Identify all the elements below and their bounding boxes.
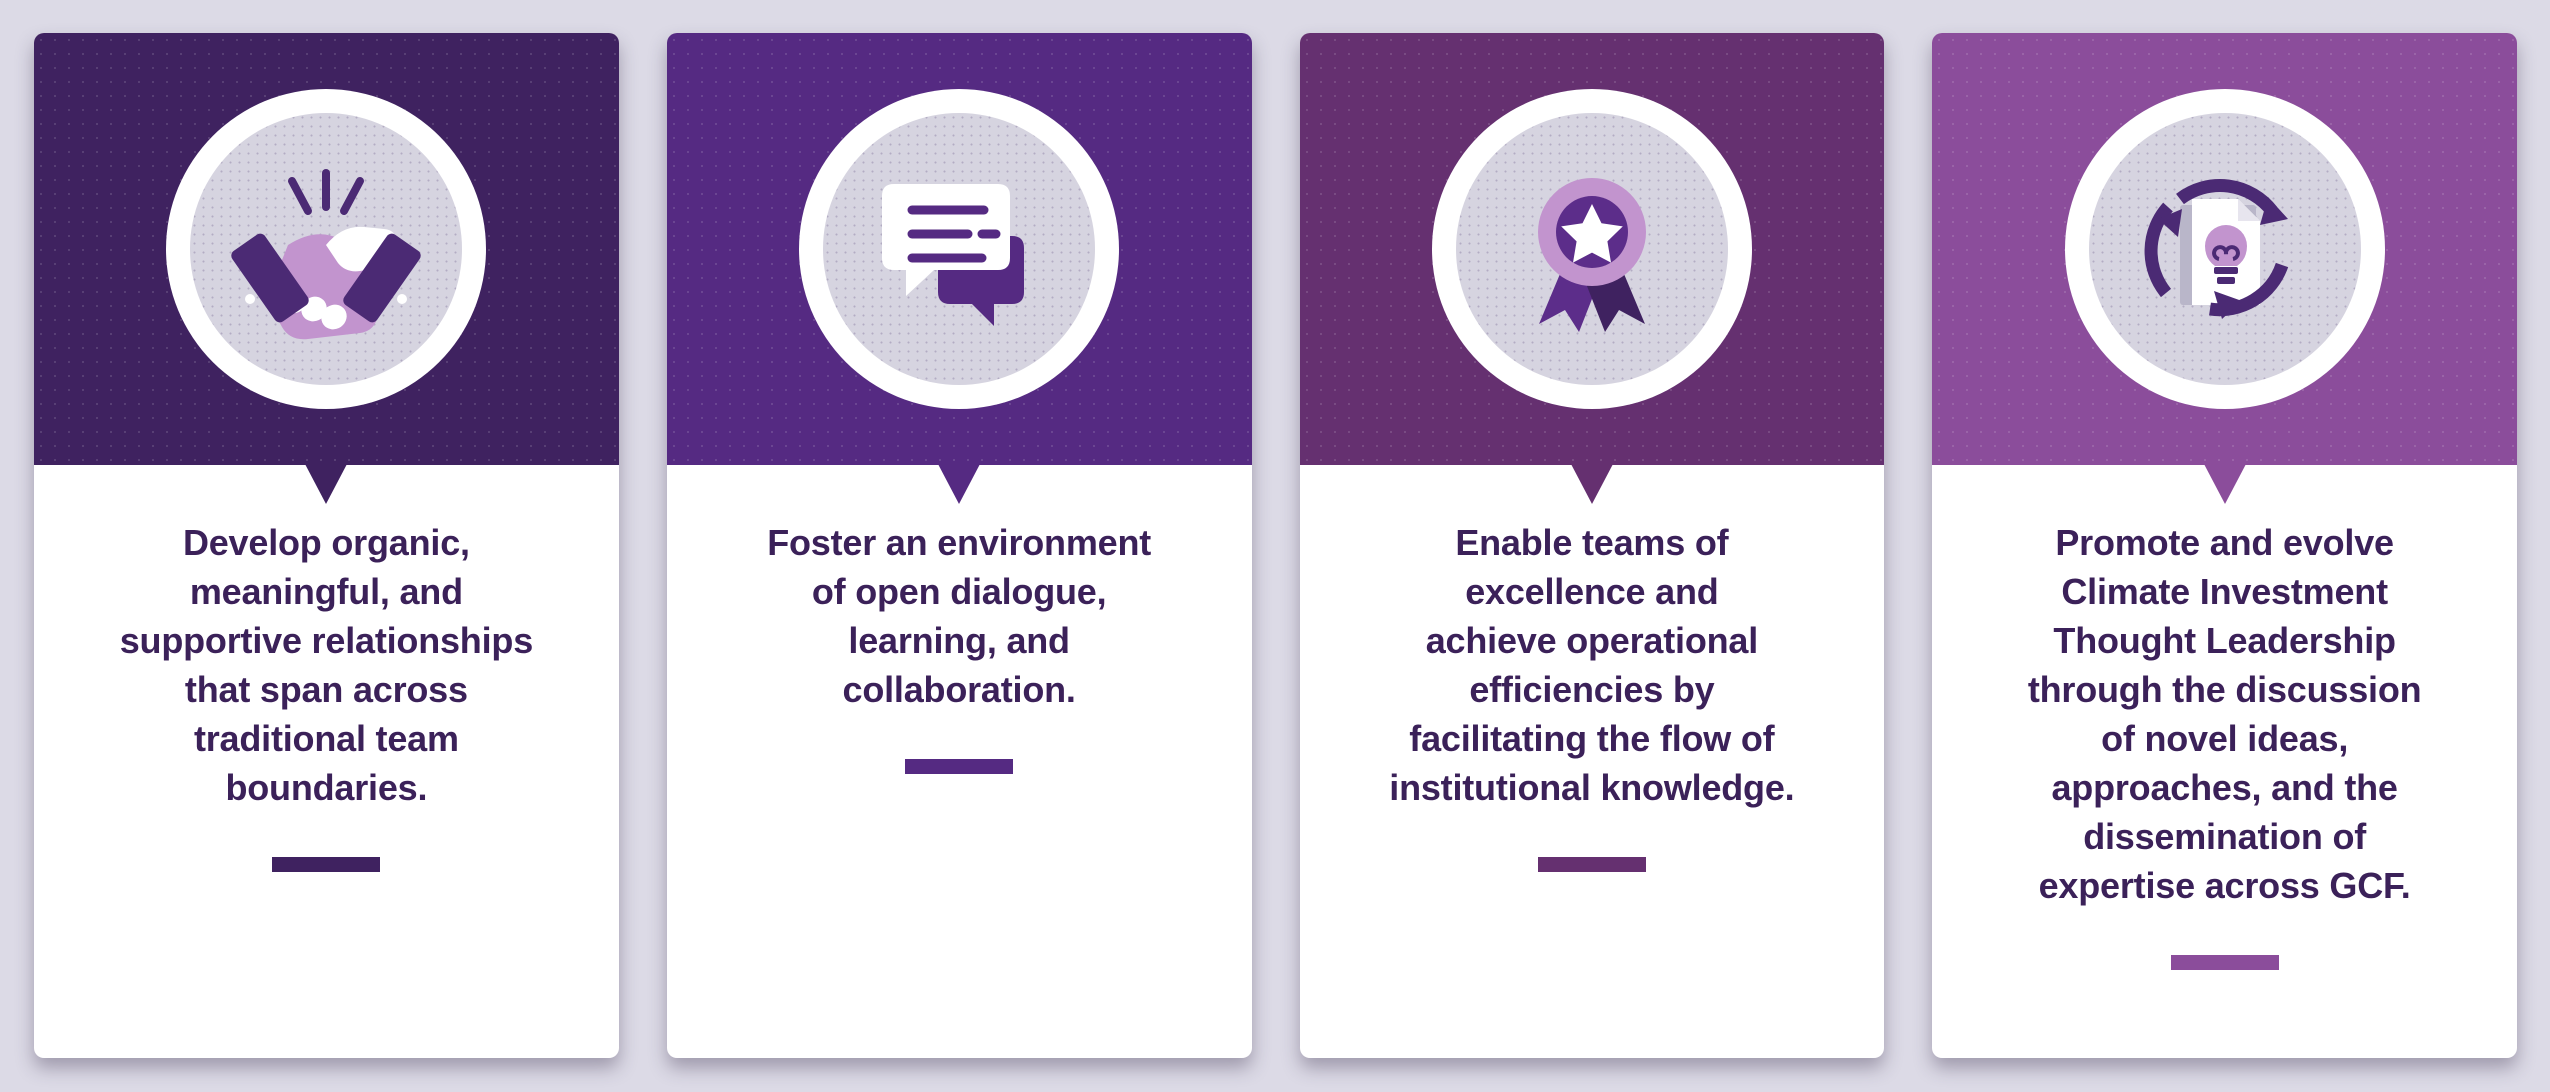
card-rule bbox=[2171, 955, 2279, 970]
speech-bubbles-icon bbox=[864, 154, 1054, 344]
card-rule bbox=[1538, 857, 1646, 872]
knowledge-cycle-icon bbox=[2122, 147, 2327, 352]
medallion-relationships bbox=[166, 89, 486, 409]
card-relationships[interactable]: Develop organic, meaningful, and support… bbox=[34, 33, 619, 1058]
card-body-thought-leadership: Promote and evolve Climate Investment Th… bbox=[1932, 465, 2517, 1058]
medallion-face bbox=[190, 113, 462, 385]
medallion-face bbox=[823, 113, 1095, 385]
medallion-thought-leadership bbox=[2065, 89, 2385, 409]
medallion-face bbox=[1456, 113, 1728, 385]
card-excellence[interactable]: Enable teams of excellence and achieve o… bbox=[1300, 33, 1885, 1058]
card-header-relationships bbox=[34, 33, 619, 465]
card-dialogue[interactable]: Foster an environment of open dialogue, … bbox=[667, 33, 1252, 1058]
medallion-excellence bbox=[1432, 89, 1752, 409]
card-text: Promote and evolve Climate Investment Th… bbox=[2028, 519, 2422, 911]
medallion-dialogue bbox=[799, 89, 1119, 409]
card-rule bbox=[272, 857, 380, 872]
medallion-face bbox=[2089, 113, 2361, 385]
card-body-excellence: Enable teams of excellence and achieve o… bbox=[1300, 465, 1885, 1058]
card-text: Enable teams of excellence and achieve o… bbox=[1389, 519, 1794, 813]
card-body-relationships: Develop organic, meaningful, and support… bbox=[34, 465, 619, 1058]
award-ribbon-icon bbox=[1497, 154, 1687, 344]
handshake-icon bbox=[226, 149, 426, 349]
card-text: Develop organic, meaningful, and support… bbox=[120, 519, 533, 813]
card-header-dialogue bbox=[667, 33, 1252, 465]
card-thought-leadership[interactable]: Promote and evolve Climate Investment Th… bbox=[1932, 33, 2517, 1058]
card-text: Foster an environment of open dialogue, … bbox=[767, 519, 1151, 715]
value-cards-board: Develop organic, meaningful, and support… bbox=[0, 0, 2550, 1092]
card-body-dialogue: Foster an environment of open dialogue, … bbox=[667, 465, 1252, 1058]
card-header-excellence bbox=[1300, 33, 1885, 465]
card-rule bbox=[905, 759, 1013, 774]
card-header-thought-leadership bbox=[1932, 33, 2517, 465]
